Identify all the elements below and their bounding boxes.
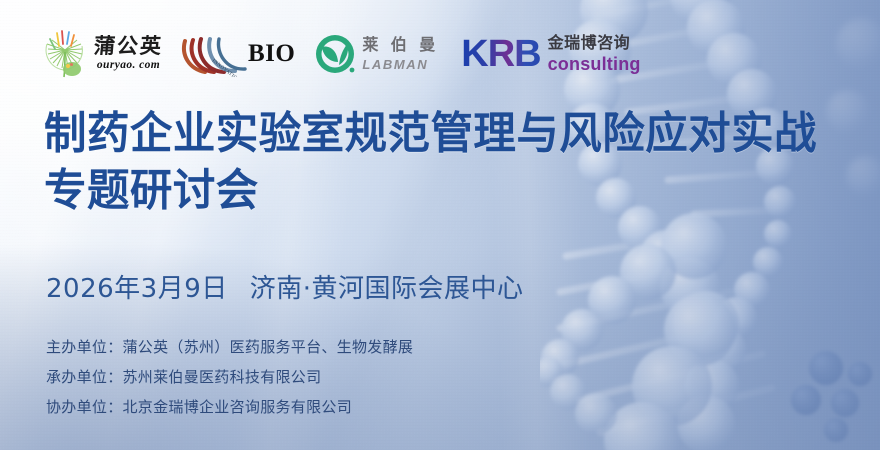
title-line-1: 制药企业实验室规范管理与风险应对实战 (44, 105, 817, 162)
conference-banner: 蒲公英 ouryao. com INNOVATION BIO (0, 0, 880, 450)
event-date: 2026年3月9日 (46, 268, 228, 305)
page-title: 制药企业实验室规范管理与风险应对实战 专题研讨会 (44, 105, 845, 219)
event-date-venue: 2026年3月9日 济南·黄河国际会展中心 (46, 268, 524, 305)
krb-wordmark-icon: KRB (461, 35, 540, 73)
organizer-host: 主办单位：蒲公英（苏州）医药服务平台、生物发酵展 (46, 336, 413, 357)
logo-krb-cn: 金瑞博咨询 (548, 36, 641, 52)
logo-ouryao-en: ouryao. com (97, 60, 160, 72)
dandelion-icon (44, 28, 88, 80)
logo-ouryao[interactable]: 蒲公英 ouryao. com (44, 26, 163, 82)
organizer-cohost: 协办单位：北京金瑞博企业咨询服务有限公司 (46, 396, 413, 417)
logo-labman-cn: 莱 伯 曼 (362, 38, 439, 54)
sponsor-logo-strip: 蒲公英 ouryao. com INNOVATION BIO (44, 26, 641, 82)
logo-labman[interactable]: 莱 伯 曼 LABMAN (313, 26, 439, 82)
event-venue: 济南·黄河国际会展中心 (250, 268, 524, 305)
logo-krb-en: consulting (548, 55, 641, 73)
logo-bio[interactable]: INNOVATION BIO (179, 26, 295, 82)
organizer-undertaker: 承办单位：苏州莱伯曼医药科技有限公司 (46, 366, 413, 387)
labman-leaf-icon (313, 32, 357, 76)
logo-labman-en: LABMAN (362, 58, 439, 71)
molecule-cluster-icon (791, 351, 872, 442)
bio-arcs-icon: INNOVATION (179, 31, 253, 77)
organizer-list: 主办单位：蒲公英（苏州）医药服务平台、生物发酵展 承办单位：苏州莱伯曼医药科技有… (46, 336, 413, 417)
logo-krb[interactable]: KRB 金瑞博咨询 consulting (461, 26, 640, 82)
title-line-2: 专题研讨会 (44, 162, 817, 219)
logo-ouryao-cn: 蒲公英 (93, 36, 164, 57)
logo-bio-wordmark: BIO (248, 40, 295, 68)
